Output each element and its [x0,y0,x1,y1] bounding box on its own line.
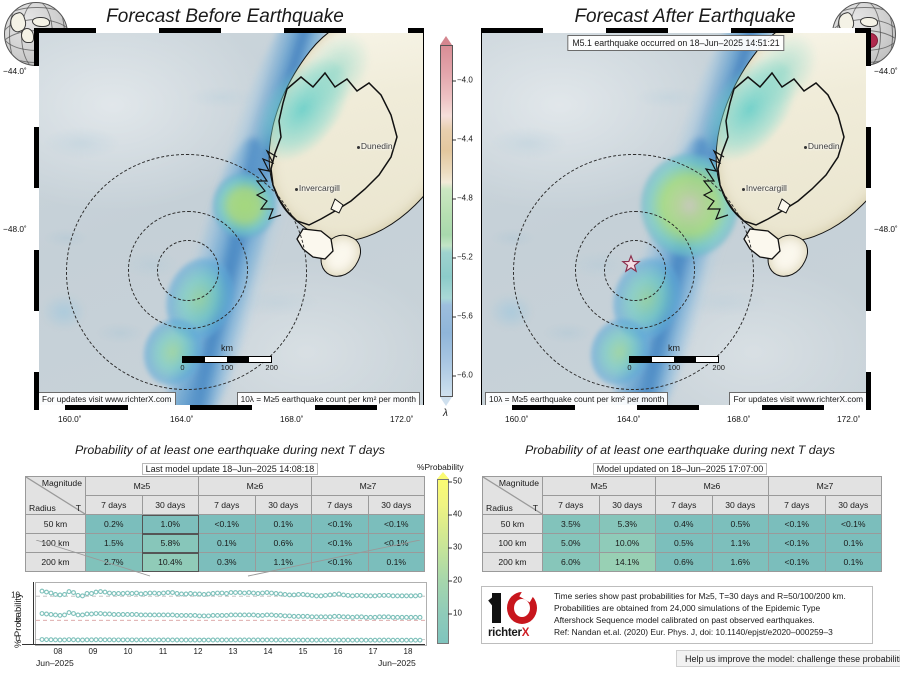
right-table-subtitle: Model updated on 18–Jun–2025 17:07:00 [593,463,768,475]
lambda-tick: −5.6 [457,312,473,321]
probability-colorbar-title: %Probability [417,462,464,472]
timeseries-chart[interactable] [35,582,427,646]
map-ticks-right-top [481,28,871,33]
corner-magnitude-label: Magnitude [42,478,82,488]
prob-cell: 5.3% [599,515,656,534]
magnitude-group-header: M≥7 [769,477,882,496]
prob-cell: <0.1% [368,515,425,534]
duration-header: 7 days [656,496,713,515]
city-label-invercargill: Invercargill [746,183,787,193]
x-tick-label: 11 [159,647,167,656]
logo-text-red: X [522,627,529,639]
city-label-dunedin: Dunedin [808,141,840,151]
prob-cell: 1.1% [712,534,769,553]
city-label-invercargill: Invercargill [299,183,340,193]
scale-tick: 0 [180,363,184,372]
table-corner-cell: Magnitude Radius T [483,477,543,515]
info-panel: richterX Time series show past probabili… [481,586,873,644]
lat-tick-label: −44.0˚ [874,66,898,76]
magnitude-group-header: M≥5 [543,477,656,496]
magnitude-group-header: M≥7 [312,477,425,496]
y-tick-label: 0 [4,635,20,644]
duration-header: 30 days [712,496,769,515]
lat-tick-label: −44.0˚ [3,66,27,76]
duration-header: 7 days [86,496,143,515]
scale-unit-label: km [221,343,233,353]
magnitude-group-header: M≥5 [86,477,199,496]
lambda-tick: −4.8 [457,194,473,203]
lon-tick-label: 164.0˚ [617,414,641,424]
logo-text-black: richter [488,627,522,639]
prob-tick: 40 [453,510,462,519]
x-axis-month-right: Jun–2025 [378,658,416,668]
prob-cell: 5.0% [543,534,600,553]
left-panel-title: Forecast Before Earthquake [60,6,390,28]
scale-tick: 100 [221,363,234,372]
prob-cell: <0.1% [312,515,369,534]
lat-tick-label: −48.0˚ [874,224,898,234]
duration-header: 30 days [142,496,199,515]
table-row: 200 km 6.0% 14.1% 0.6% 1.6% <0.1% 0.1% [483,553,882,572]
table-body-after: 50 km 3.5% 5.3% 0.4% 0.5% <0.1% <0.1% 10… [483,515,882,572]
right-table-title: Probability of at least one earthquake d… [470,443,890,457]
corner-t-label: T [76,503,81,513]
earthquake-banner: M5.1 earthquake occurred on 18–Jun–2025 … [567,35,784,51]
prob-cell: 0.5% [712,515,769,534]
corner-radius-label: Radius [29,503,56,513]
prob-cell: 0.2% [86,515,143,534]
row-radius-label: 100 km [483,534,543,553]
lambda-tick: −6.0 [457,371,473,380]
duration-header: 30 days [255,496,312,515]
x-tick-label: 15 [299,647,308,656]
table-row: 100 km 5.0% 10.0% 0.5% 1.1% <0.1% 0.1% [483,534,882,553]
city-label-dunedin: Dunedin [361,141,393,151]
prob-cell: <0.1% [825,515,882,534]
map-canvas-right: Invercargill Dunedin km 0 100 200 M5.1 e… [482,29,870,409]
duration-header: 7 days [312,496,369,515]
row-radius-label: 200 km [483,553,543,572]
table-row: 50 km 0.2% 1.0% <0.1% 0.1% <0.1% <0.1% [26,515,425,534]
prob-tick: 10 [453,609,462,618]
lon-tick-label: 160.0˚ [58,414,82,424]
x-tick-label: 08 [54,647,63,656]
scale-tick: 200 [265,363,278,372]
prob-cell: 6.0% [543,553,600,572]
duration-header: 30 days [599,496,656,515]
x-tick-label: 18 [404,647,413,656]
scale-bar-right: km 0 100 200 [629,356,718,373]
lon-tick-label: 172.0˚ [390,414,414,424]
lambda-tick: −4.4 [457,135,473,144]
corner-t-label: T [533,503,538,513]
corner-radius-label: Radius [486,503,513,513]
map-after-earthquake[interactable]: Invercargill Dunedin km 0 100 200 M5.1 e… [481,28,871,410]
lon-tick-label: 172.0˚ [837,414,861,424]
map-before-earthquake[interactable]: Invercargill Dunedin km 0 100 200 For up… [34,28,424,410]
prob-cell: 3.5% [543,515,600,534]
lon-tick-label: 164.0˚ [170,414,194,424]
y-tick-label: 10 [0,591,20,600]
info-line: Time series show past probabilities for … [554,591,846,603]
prob-cell: 10.0% [599,534,656,553]
magnitude-group-header: M≥6 [199,477,312,496]
epicenter-star-icon [622,255,640,273]
prob-cell: 0.1% [825,534,882,553]
map-canvas-left: Invercargill Dunedin km 0 100 200 For up… [35,29,423,409]
duration-header: 7 days [543,496,600,515]
scale-tick: 0 [627,363,631,372]
map-ticks-right-side [866,28,871,410]
prob-tick: 50 [453,477,462,486]
prob-cell: 0.6% [656,553,713,572]
prob-cell: 14.1% [599,553,656,572]
lambda-tick: −4.0 [457,76,473,85]
map-ticks-right-bottom [481,405,871,410]
x-tick-label: 14 [264,647,273,656]
prob-cell: 1.0% [142,515,199,534]
prob-cell: 0.1% [255,515,312,534]
lon-tick-label: 168.0˚ [280,414,304,424]
map-ticks-left-side [34,28,39,410]
table-corner-cell: Magnitude Radius T [26,477,86,515]
magnitude-group-header: M≥6 [656,477,769,496]
x-tick-label: 13 [229,647,238,656]
duration-header: 7 days [769,496,826,515]
lat-tick-label: −48.0˚ [3,224,27,234]
lon-tick-label: 160.0˚ [505,414,529,424]
info-line: Aftershock Sequence model calibrated on … [554,615,815,627]
prob-cell: 0.1% [825,553,882,572]
table-row: 50 km 3.5% 5.3% 0.4% 0.5% <0.1% <0.1% [483,515,882,534]
prob-cell: <0.1% [769,515,826,534]
y-tick-label: 5 [4,616,20,625]
richterx-wordmark: richterX [488,627,529,639]
lambda-symbol-label: λ [443,408,448,419]
lon-tick-label: 168.0˚ [727,414,751,424]
info-line: Probabilities are obtained from 24,000 s… [554,603,820,615]
timeseries-yaxis [22,582,34,644]
scale-tick: 200 [712,363,725,372]
map-ticks-left-bottom [34,405,424,410]
prob-cell: <0.1% [769,553,826,572]
x-tick-label: 09 [89,647,98,656]
prob-cell: <0.1% [199,515,256,534]
left-table-title: Probability of at least one earthquake d… [20,443,440,457]
scale-bar-left: km 0 100 200 [182,356,271,373]
left-table-subtitle: Last model update 18–Jun–2025 14:08:18 [142,463,319,475]
row-radius-label: 50 km [26,515,86,534]
x-axis-month-left: Jun–2025 [36,658,74,668]
x-tick-label: 17 [369,647,378,656]
richterx-logo-icon [490,589,552,625]
timeseries-plot-area [36,583,426,645]
probability-table-after[interactable]: Magnitude Radius T M≥5 M≥6 M≥7 7 days 30… [482,476,882,572]
right-panel-title: Forecast After Earthquake [520,6,850,28]
scale-tick: 100 [668,363,681,372]
row-radius-label: 50 km [483,515,543,534]
lambda-tick: −5.2 [457,253,473,262]
map-ticks-left-top [34,28,424,33]
help-link[interactable]: Help us improve the model: challenge the… [676,650,900,667]
prob-cell: 0.5% [656,534,713,553]
lambda-colorbar: −4.0 −4.4 −4.8 −5.2 −5.6 −6.0 λ [440,36,480,416]
x-tick-label: 12 [194,647,203,656]
info-line: Ref: Nandan et.al. (2020) Eur. Phys. J, … [554,627,833,639]
prob-cell: 1.6% [712,553,769,572]
x-tick-label: 16 [334,647,343,656]
duration-header: 30 days [368,496,425,515]
timeseries-xaxis [22,644,425,645]
prob-cell: <0.1% [769,534,826,553]
corner-magnitude-label: Magnitude [499,478,539,488]
duration-header: 7 days [199,496,256,515]
radius-circle-50km [157,240,219,301]
x-tick-label: 10 [124,647,133,656]
duration-header: 30 days [825,496,882,515]
prob-cell: 0.4% [656,515,713,534]
scale-unit-label: km [668,343,680,353]
